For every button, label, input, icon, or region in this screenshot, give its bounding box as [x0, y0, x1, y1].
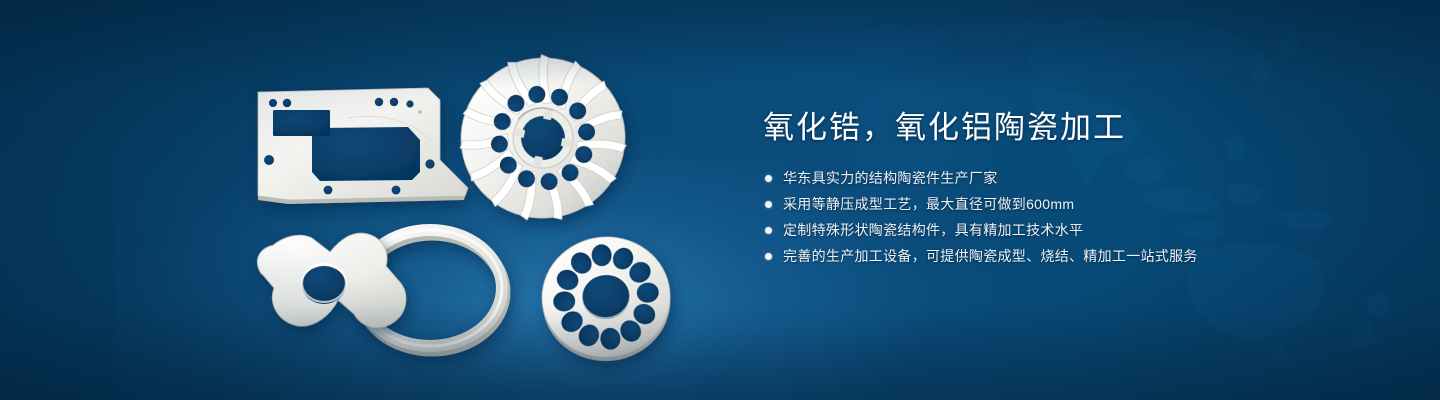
feature-item: 采用等静压成型工艺，最大直径可做到600mm [763, 195, 1403, 214]
feature-item-label: 华东具实力的结构陶瓷件生产厂家 [783, 170, 998, 186]
banner-headline: 氧化锆，氧化铝陶瓷加工 [763, 108, 1403, 148]
feature-item-label: 完善的生产加工设备，可提供陶瓷成型、烧结、精加工一站式服务 [783, 248, 1198, 264]
hero-banner: 氧化锆，氧化铝陶瓷加工 华东具实力的结构陶瓷件生产厂家 采用等静压成型工艺，最大… [0, 0, 1440, 400]
ceramic-perforated-disc [536, 231, 676, 368]
feature-item-label: 定制特殊形状陶瓷结构件，具有精加工技术水平 [783, 222, 1083, 238]
feature-item: 华东具实力的结构陶瓷件生产厂家 [763, 169, 1403, 188]
bullet-dot-icon [765, 201, 772, 208]
ceramic-impeller-disc [449, 44, 636, 232]
bullet-dot-icon [765, 253, 772, 260]
ceramic-cross-part [258, 233, 406, 327]
feature-item: 完善的生产加工设备，可提供陶瓷成型、烧结、精加工一站式服务 [763, 247, 1403, 266]
banner-copy: 氧化锆，氧化铝陶瓷加工 华东具实力的结构陶瓷件生产厂家 采用等静压成型工艺，最大… [763, 108, 1403, 266]
ceramic-flat-plate [258, 88, 468, 204]
feature-item: 定制特殊形状陶瓷结构件，具有精加工技术水平 [763, 221, 1403, 240]
bullet-dot-icon [765, 227, 772, 234]
product-imagery [0, 0, 760, 400]
feature-list: 华东具实力的结构陶瓷件生产厂家 采用等静压成型工艺，最大直径可做到600mm 定… [763, 169, 1403, 266]
bullet-dot-icon [765, 175, 772, 182]
feature-item-label: 采用等静压成型工艺，最大直径可做到600mm [783, 196, 1074, 212]
